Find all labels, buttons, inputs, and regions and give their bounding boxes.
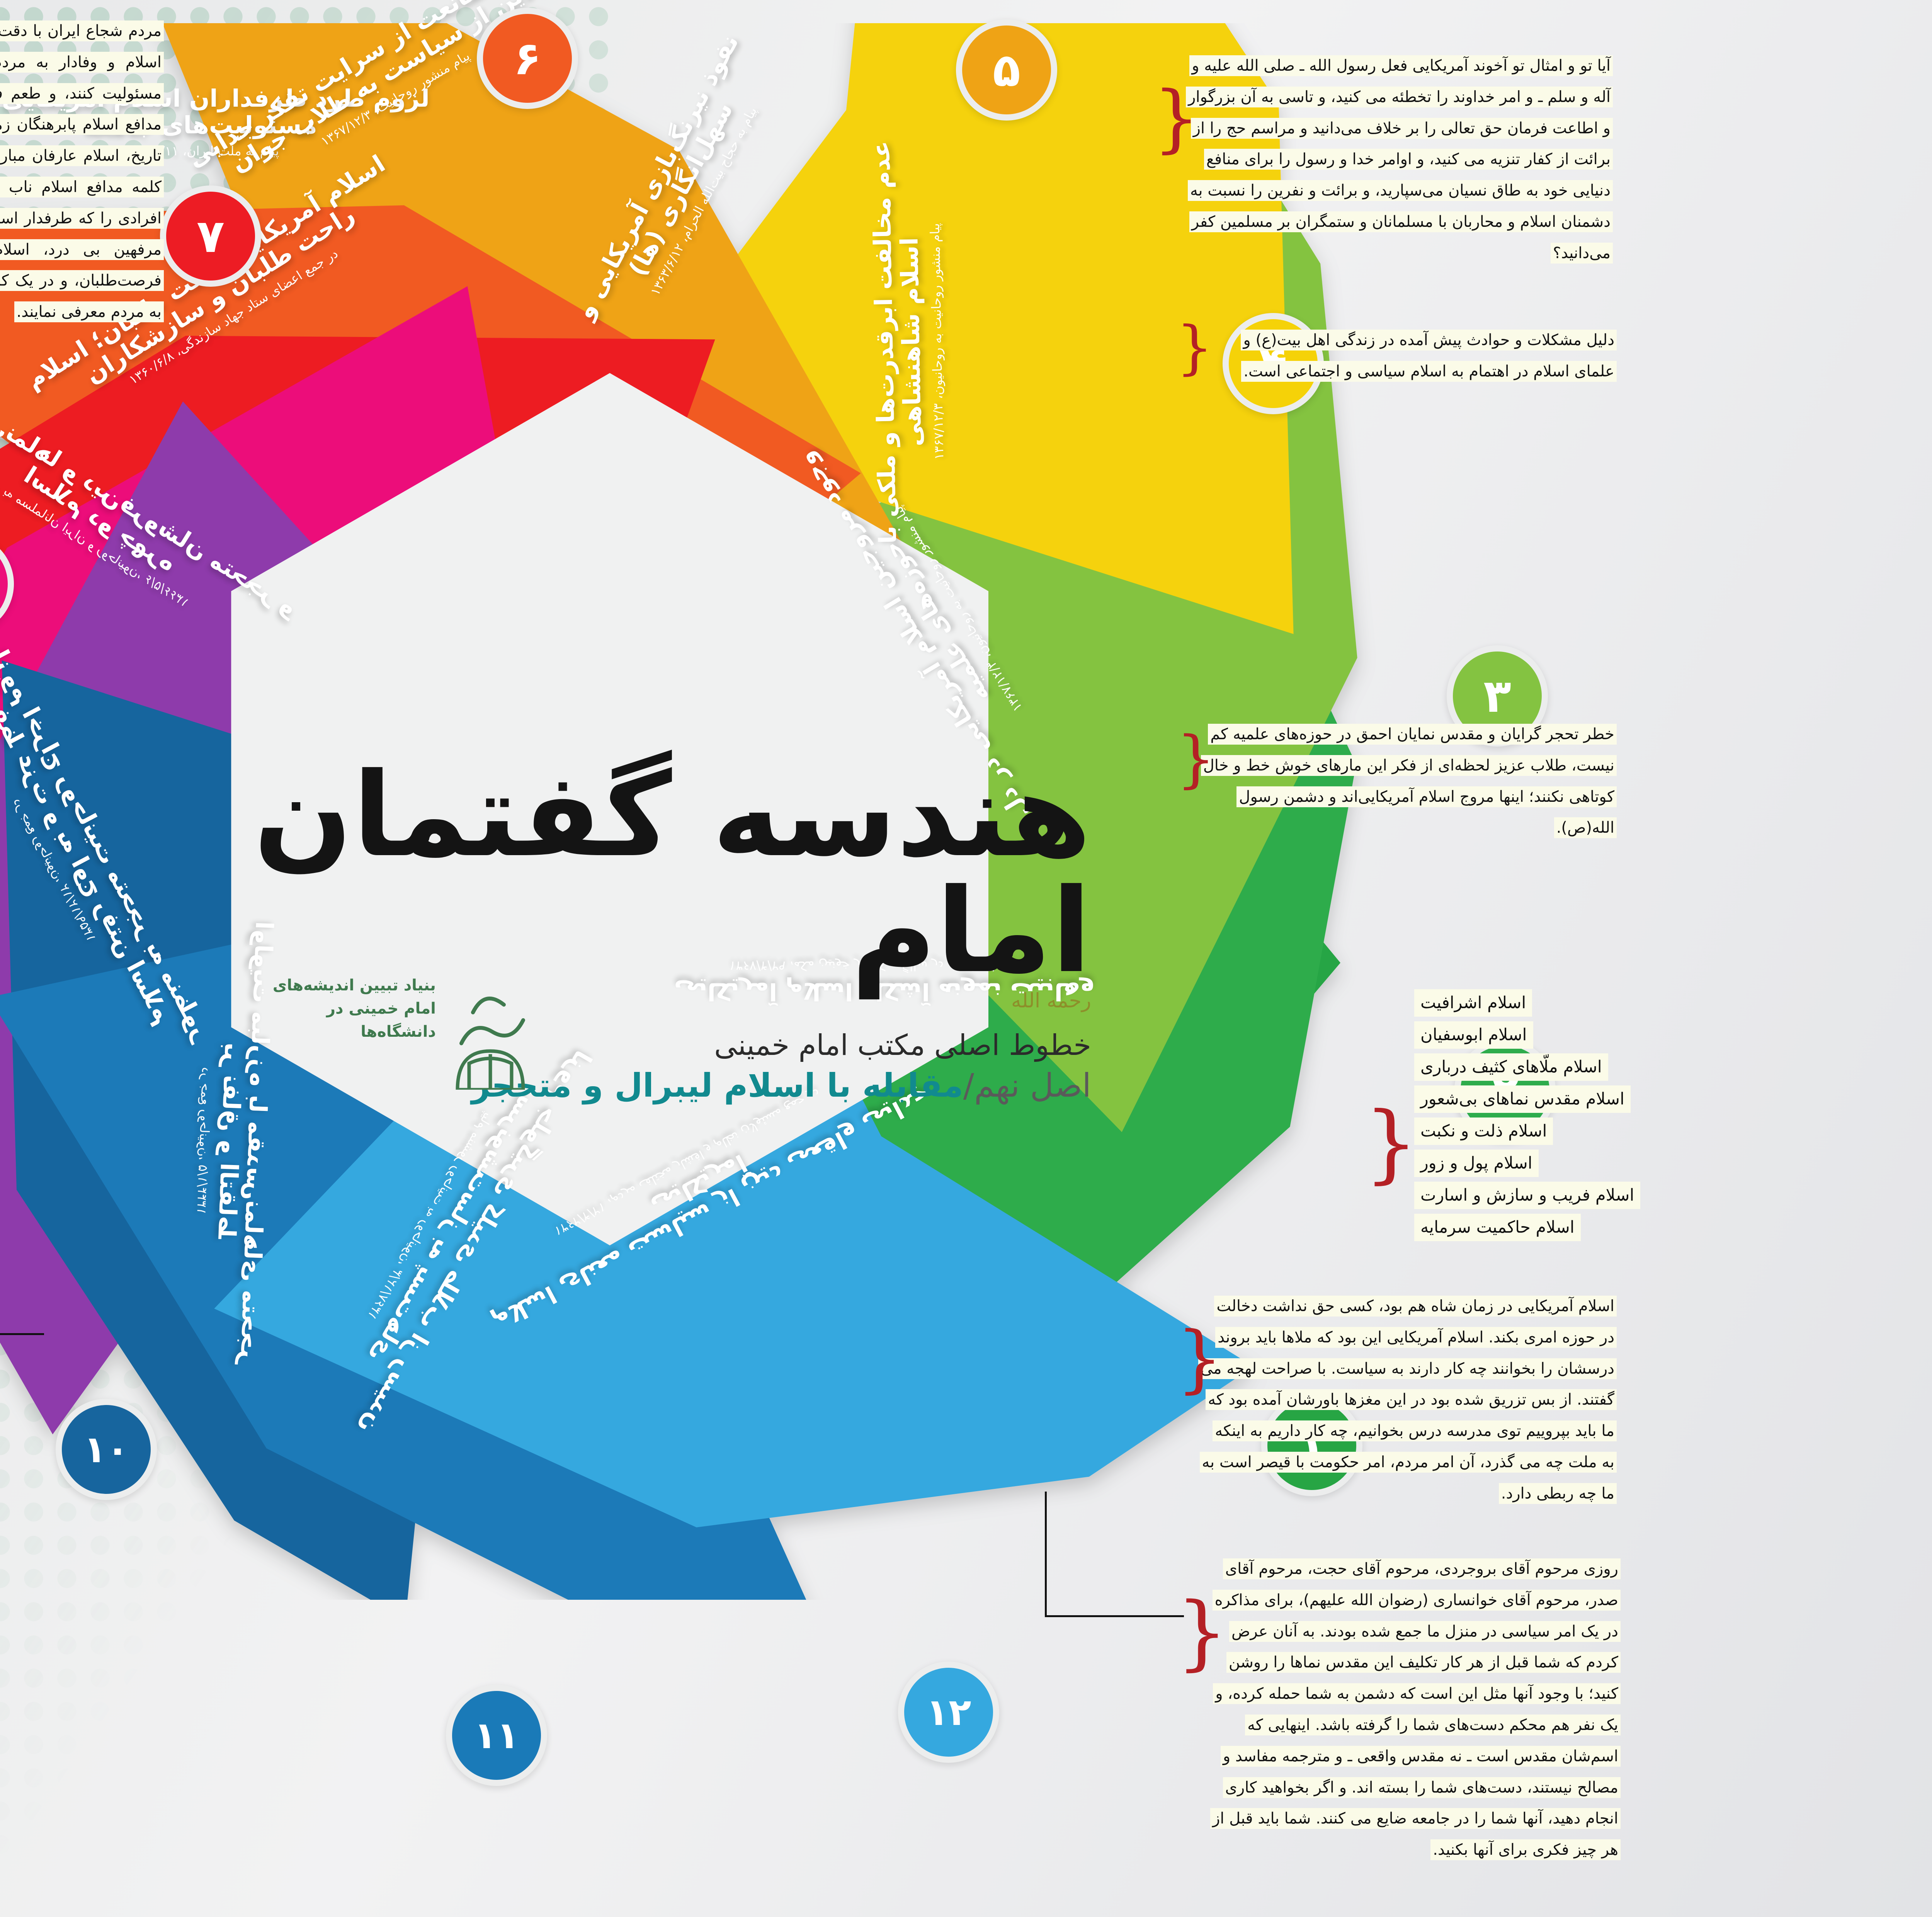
poster-canvas: لزوم طرد طرفداران اسلام آمریکایی از مسئو… [0,0,1932,1917]
brace-right-1: { [1176,325,1213,371]
brace-right-4: { [1176,1329,1223,1388]
foundation-logo: بنیاد تبیین اندیشه‌های امام خمینی در دان… [249,974,535,1090]
leader-line-right-bottom [1045,1615,1184,1617]
list-item: اسلام ابوسفیان [1414,1021,1862,1049]
foundation-name: بنیاد تبیین اندیشه‌های امام خمینی در دان… [249,974,436,1043]
leader-line-right-bottom-vert [1045,1492,1047,1615]
brace-right-5: { [1176,1600,1228,1665]
list-item: اسلام حاکمیت سرمایه [1414,1214,1862,1241]
list-item: اسلام مقدس نماهای بی‌شعور [1414,1085,1862,1113]
callout-right-aheli-bayt: دلیل مشکلات و حوادث پیش آمده در زندگی اه… [1199,325,1617,387]
khomeini-logo-icon [446,974,535,1090]
leader-line-bottom-left [0,1333,44,1335]
callout-right-tahajjor: خطر تحجر گرایان و مقدس نمایان احمق در حو… [1199,719,1617,844]
callout-right-boroujerdi: روزی مرحوم آقای بروجردی، مرحوم آقای حجت،… [1199,1553,1621,1866]
brace-top-right: { [1153,89,1200,148]
callout-right-shah-era: اسلام آمریکایی در زمان شاه هم بود، کسی ح… [1199,1291,1617,1509]
blade-badge-11[interactable]: ۱۱ [446,1685,547,1786]
list-item: اسلام پول و زور [1414,1150,1862,1177]
blade-badge-6[interactable]: ۶ [477,8,578,109]
callout-top-left: مردم شجاع ایران با دقت تمام به نمایندگان… [0,15,164,328]
principle-label: اصل نهم/ [963,1067,1091,1104]
center-hub: هندسه گفتمان امام رحمه الله خطوط اصلی مک… [210,757,1114,1267]
brace-islam-list: { [1364,1109,1418,1177]
callout-top-right: آیا تو و امثال تو آخوند آمریکایی فعل رسو… [1176,50,1613,269]
blade-badge-7[interactable]: ۷ [160,185,261,287]
brace-right-2: { [1176,734,1216,784]
blade-badge-5[interactable]: ۵ [956,19,1057,121]
list-item: اسلام ملّاهای کثیف درباری [1414,1053,1862,1081]
list-item: اسلام اشرافیت [1414,989,1862,1017]
blade-badge-12[interactable]: ۱۲ [898,1662,999,1763]
list-item: اسلام ذلت و نکبت [1414,1118,1862,1145]
page-title: هندسه گفتمان امام [210,757,1114,989]
principle-value: مقابله با اسلام لیبرال و متحجر [471,1067,963,1104]
blade-badge-10[interactable]: ۱۰ [56,1399,157,1500]
list-item: اسلام فریب و سازش و اسارت [1414,1182,1862,1209]
american-islam-list: اسلام اشرافیت اسلام ابوسفیان اسلام ملّاه… [1414,989,1862,1246]
